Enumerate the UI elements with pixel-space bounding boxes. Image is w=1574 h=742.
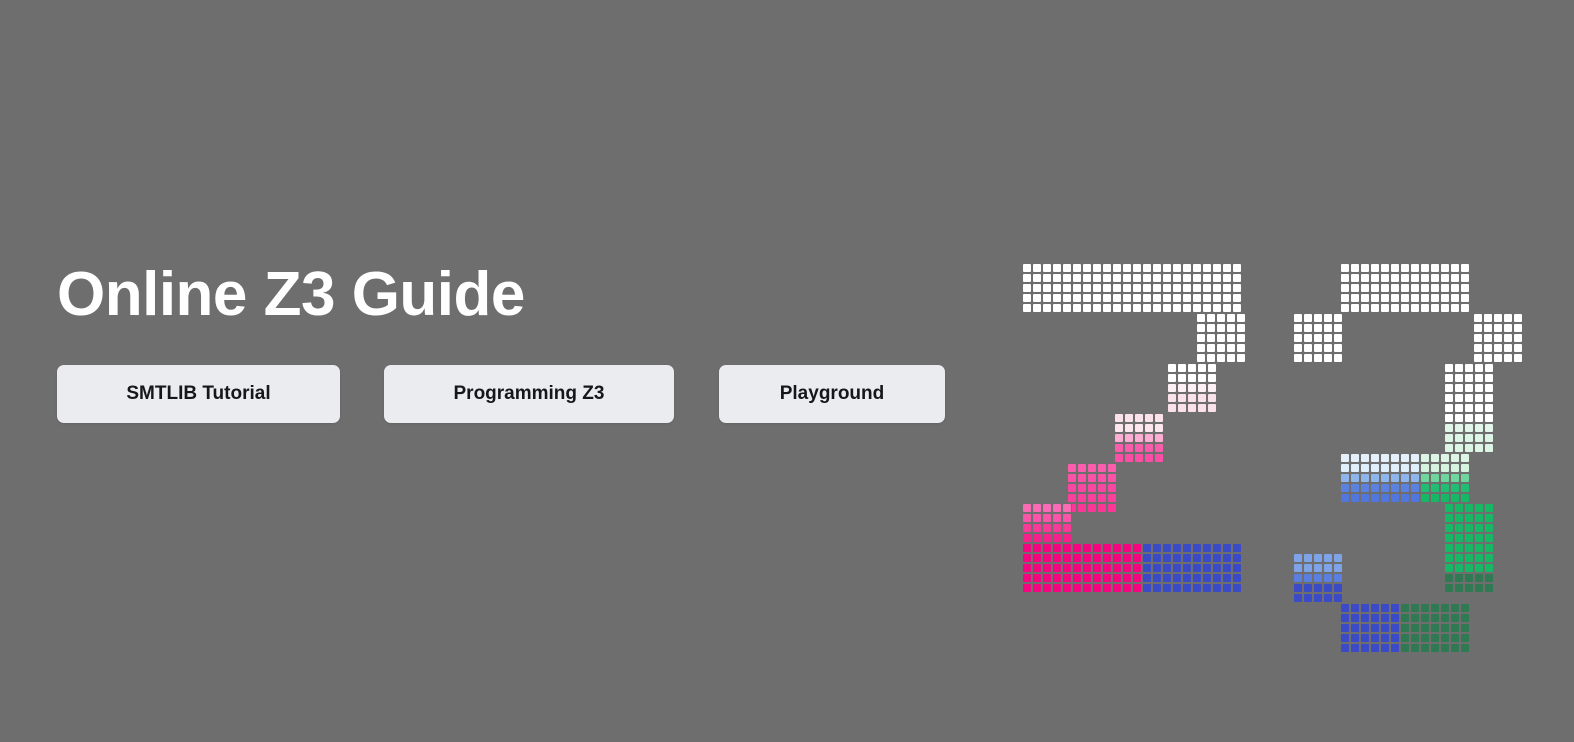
logo-pixel: [1410, 623, 1420, 633]
logo-pixel: [1196, 343, 1206, 353]
logo-pixel: [1380, 623, 1390, 633]
logo-pixel: [1092, 273, 1102, 283]
logo-block-step-2: [1114, 413, 1164, 463]
logo-pixel: [1212, 303, 1222, 313]
logo-pixel: [1484, 443, 1494, 453]
logo-pixel: [1293, 353, 1303, 363]
logo-pixel: [1464, 443, 1474, 453]
logo-pixel: [1232, 273, 1242, 283]
logo-pixel: [1484, 573, 1494, 583]
logo-pixel: [1052, 513, 1062, 523]
logo-pixel: [1360, 483, 1370, 493]
logo-pixel: [1182, 263, 1192, 273]
programming-z3-button[interactable]: Programming Z3: [384, 365, 674, 423]
logo-pixel: [1082, 573, 1092, 583]
logo-pixel: [1380, 613, 1390, 623]
logo-pixel: [1187, 383, 1197, 393]
logo-pixel: [1350, 633, 1360, 643]
logo-block-step-3: [1067, 463, 1117, 513]
logo-pixel: [1410, 463, 1420, 473]
logo-pixel: [1172, 543, 1182, 553]
logo-pixel: [1313, 353, 1323, 363]
logo-pixel: [1042, 583, 1052, 593]
logo-pixel: [1474, 513, 1484, 523]
logo-pixel: [1162, 303, 1172, 313]
logo-pixel: [1454, 383, 1464, 393]
logo-pixel: [1503, 353, 1513, 363]
logo-pixel: [1474, 413, 1484, 423]
logo-pixel: [1313, 573, 1323, 583]
logo-pixel: [1430, 293, 1440, 303]
logo-block-right-upper: [1473, 313, 1523, 363]
logo-pixel: [1144, 413, 1154, 423]
logo-pixel: [1122, 573, 1132, 583]
logo-pixel: [1196, 313, 1206, 323]
logo-pixel: [1484, 543, 1494, 553]
logo-pixel: [1430, 273, 1440, 283]
logo-pixel: [1022, 273, 1032, 283]
logo-pixel: [1370, 293, 1380, 303]
logo-pixel: [1323, 573, 1333, 583]
logo-pixel: [1483, 343, 1493, 353]
logo-pixel: [1350, 263, 1360, 273]
logo-pixel: [1473, 333, 1483, 343]
logo-pixel: [1350, 623, 1360, 633]
logo-pixel: [1410, 633, 1420, 643]
logo-pixel: [1042, 263, 1052, 273]
logo-pixel: [1340, 613, 1350, 623]
logo-pixel: [1410, 483, 1420, 493]
logo-pixel: [1430, 473, 1440, 483]
logo-pixel: [1142, 303, 1152, 313]
logo-pixel: [1460, 473, 1470, 483]
logo-pixel: [1454, 393, 1464, 403]
logo-pixel: [1464, 503, 1474, 513]
logo-pixel: [1450, 463, 1460, 473]
logo-pixel: [1410, 453, 1420, 463]
logo-pixel: [1182, 293, 1192, 303]
logo-pixel: [1450, 453, 1460, 463]
logo-pixel: [1333, 333, 1343, 343]
logo-pixel: [1226, 333, 1236, 343]
logo-pixel: [1444, 433, 1454, 443]
logo-pixel: [1370, 273, 1380, 283]
logo-pixel: [1202, 583, 1212, 593]
logo-pixel: [1112, 573, 1122, 583]
logo-pixel: [1444, 383, 1454, 393]
logo-pixel: [1323, 343, 1333, 353]
logo-pixel: [1474, 533, 1484, 543]
logo-block-left-lower: [1293, 553, 1343, 603]
logo-pixel: [1062, 563, 1072, 573]
logo-pixel: [1072, 303, 1082, 313]
logo-pixel: [1400, 613, 1410, 623]
logo-pixel: [1464, 393, 1474, 403]
logo-pixel: [1333, 343, 1343, 353]
logo-pixel: [1474, 403, 1484, 413]
logo-pixel: [1077, 493, 1087, 503]
logo-pixel: [1062, 293, 1072, 303]
logo-pixel: [1142, 273, 1152, 283]
logo-pixel: [1097, 463, 1107, 473]
logo-pixel: [1513, 323, 1523, 333]
logo-pixel: [1360, 463, 1370, 473]
logo-pixel: [1192, 583, 1202, 593]
z3-pixel-logo: [1022, 263, 1522, 583]
logo-pixel: [1032, 513, 1042, 523]
logo-pixel: [1430, 453, 1440, 463]
logo-pixel: [1226, 313, 1236, 323]
logo-pixel: [1196, 323, 1206, 333]
logo-pixel: [1484, 423, 1494, 433]
logo-block-right-column: [1444, 363, 1494, 453]
logo-pixel: [1042, 523, 1052, 533]
logo-pixel: [1390, 483, 1400, 493]
logo-pixel: [1052, 283, 1062, 293]
logo-pixel: [1206, 313, 1216, 323]
logo-pixel: [1323, 333, 1333, 343]
logo-pixel: [1464, 413, 1474, 423]
logo-pixel: [1454, 553, 1464, 563]
logo-pixel: [1142, 283, 1152, 293]
logo-pixel: [1390, 613, 1400, 623]
logo-pixel: [1303, 563, 1313, 573]
logo-pixel: [1444, 553, 1454, 563]
logo-pixel: [1444, 563, 1454, 573]
logo-pixel: [1450, 493, 1460, 503]
logo-pixel: [1464, 563, 1474, 573]
logo-pixel: [1107, 483, 1117, 493]
logo-pixel: [1072, 563, 1082, 573]
logo-pixel: [1400, 473, 1410, 483]
logo-pixel: [1232, 583, 1242, 593]
logo-pixel: [1107, 503, 1117, 513]
logo-pixel: [1202, 293, 1212, 303]
logo-pixel: [1380, 303, 1390, 313]
logo-pixel: [1350, 613, 1360, 623]
logo-pixel: [1444, 413, 1454, 423]
logo-pixel: [1450, 283, 1460, 293]
logo-pixel: [1097, 483, 1107, 493]
logo-pixel: [1122, 303, 1132, 313]
logo-pixel: [1207, 373, 1217, 383]
logo-pixel: [1484, 583, 1494, 593]
logo-pixel: [1236, 323, 1246, 333]
logo-pixel: [1222, 293, 1232, 303]
logo-pixel: [1022, 503, 1032, 513]
logo-pixel: [1360, 613, 1370, 623]
logo-pixel: [1340, 283, 1350, 293]
logo-pixel: [1197, 363, 1207, 373]
logo-pixel: [1350, 643, 1360, 653]
logo-pixel: [1167, 393, 1177, 403]
logo-pixel: [1444, 443, 1454, 453]
logo-pixel: [1112, 553, 1122, 563]
logo-pixel: [1293, 593, 1303, 603]
logo-pixel: [1202, 543, 1212, 553]
logo-pixel: [1042, 543, 1052, 553]
logo-pixel: [1202, 283, 1212, 293]
logo-pixel: [1226, 323, 1236, 333]
logo-pixel: [1420, 643, 1430, 653]
logo-pixel: [1360, 453, 1370, 463]
logo-pixel: [1102, 583, 1112, 593]
logo-pixel: [1464, 403, 1474, 413]
logo-pixel: [1092, 293, 1102, 303]
logo-pixel: [1400, 263, 1410, 273]
logo-pixel: [1062, 263, 1072, 273]
logo-pixel: [1474, 503, 1484, 513]
logo-pixel: [1360, 263, 1370, 273]
logo-pixel: [1460, 463, 1470, 473]
logo-pixel: [1464, 373, 1474, 383]
logo-pixel: [1483, 313, 1493, 323]
logo-pixel: [1430, 283, 1440, 293]
logo-pixel: [1082, 543, 1092, 553]
logo-pixel: [1360, 643, 1370, 653]
logo-pixel: [1092, 563, 1102, 573]
logo-pixel: [1144, 443, 1154, 453]
logo-pixel: [1410, 473, 1420, 483]
logo-pixel: [1464, 583, 1474, 593]
logo-block-top-bar: [1340, 263, 1470, 313]
logo-pixel: [1440, 453, 1450, 463]
logo-pixel: [1167, 363, 1177, 373]
logo-pixel: [1430, 483, 1440, 493]
logo-pixel: [1232, 303, 1242, 313]
logo-pixel: [1042, 563, 1052, 573]
logo-pixel: [1212, 263, 1222, 273]
logo-pixel: [1313, 553, 1323, 563]
logo-pixel: [1360, 303, 1370, 313]
logo-pixel: [1172, 293, 1182, 303]
logo-pixel: [1022, 303, 1032, 313]
logo-pixel: [1430, 603, 1440, 613]
logo-pixel: [1022, 573, 1032, 583]
logo-pixel: [1236, 343, 1246, 353]
logo-pixel: [1420, 633, 1430, 643]
logo-pixel: [1134, 413, 1144, 423]
playground-button[interactable]: Playground: [719, 365, 945, 423]
logo-pixel: [1216, 343, 1226, 353]
logo-pixel: [1370, 603, 1380, 613]
page-title: Online Z3 Guide: [57, 262, 957, 327]
logo-pixel: [1400, 273, 1410, 283]
logo-pixel: [1370, 623, 1380, 633]
logo-pixel: [1503, 313, 1513, 323]
logo-pixel: [1154, 423, 1164, 433]
logo-pixel: [1097, 493, 1107, 503]
logo-pixel: [1390, 303, 1400, 313]
logo-pixel: [1062, 533, 1072, 543]
logo-pixel: [1042, 303, 1052, 313]
logo-pixel: [1474, 543, 1484, 553]
logo-pixel: [1400, 643, 1410, 653]
logo-pixel: [1022, 293, 1032, 303]
logo-pixel: [1303, 573, 1313, 583]
logo-block-bottom-bar: [1022, 543, 1242, 593]
logo-pixel: [1420, 283, 1430, 293]
logo-pixel: [1293, 583, 1303, 593]
logo-pixel: [1042, 573, 1052, 583]
logo-pixel: [1132, 263, 1142, 273]
logo-pixel: [1192, 573, 1202, 583]
logo-pixel: [1072, 283, 1082, 293]
logo-pixel: [1122, 283, 1132, 293]
logo-pixel: [1440, 623, 1450, 633]
logo-pixel: [1222, 303, 1232, 313]
logo-pixel: [1454, 433, 1464, 443]
logo-pixel: [1182, 283, 1192, 293]
logo-pixel: [1082, 293, 1092, 303]
logo-pixel: [1132, 303, 1142, 313]
logo-pixel: [1052, 533, 1062, 543]
logo-pixel: [1450, 273, 1460, 283]
logo-pixel: [1400, 483, 1410, 493]
logo-pixel: [1197, 373, 1207, 383]
logo-pixel: [1444, 533, 1454, 543]
logo-pixel: [1152, 303, 1162, 313]
logo-pixel: [1460, 623, 1470, 633]
logo-pixel: [1172, 553, 1182, 563]
logo-pixel: [1162, 543, 1172, 553]
logo-pixel: [1450, 623, 1460, 633]
logo-pixel: [1062, 523, 1072, 533]
logo-pixel: [1052, 293, 1062, 303]
logo-pixel: [1420, 603, 1430, 613]
logo-pixel: [1340, 633, 1350, 643]
logo-pixel: [1114, 423, 1124, 433]
logo-pixel: [1460, 633, 1470, 643]
logo-pixel: [1092, 303, 1102, 313]
logo-pixel: [1032, 523, 1042, 533]
logo-pixel: [1052, 563, 1062, 573]
logo-pixel: [1420, 623, 1430, 633]
logo-pixel: [1430, 263, 1440, 273]
logo-pixel: [1370, 633, 1380, 643]
logo-pixel: [1052, 523, 1062, 533]
logo-pixel: [1072, 583, 1082, 593]
logo-pixel: [1370, 613, 1380, 623]
logo-pixel: [1222, 263, 1232, 273]
logo-pixel: [1464, 543, 1474, 553]
logo-pixel: [1032, 273, 1042, 283]
logo-pixel: [1187, 403, 1197, 413]
logo-pixel: [1440, 603, 1450, 613]
logo-pixel: [1112, 273, 1122, 283]
logo-pixel: [1350, 603, 1360, 613]
logo-pixel: [1454, 543, 1464, 553]
logo-pixel: [1232, 573, 1242, 583]
logo-pixel: [1122, 293, 1132, 303]
logo-pixel: [1380, 473, 1390, 483]
logo-pixel: [1162, 583, 1172, 593]
logo-pixel: [1052, 543, 1062, 553]
logo-pixel: [1142, 553, 1152, 563]
logo-pixel: [1067, 483, 1077, 493]
logo-pixel: [1212, 563, 1222, 573]
logo-pixel: [1444, 423, 1454, 433]
logo-pixel: [1454, 423, 1464, 433]
logo-pixel: [1440, 643, 1450, 653]
logo-pixel: [1440, 293, 1450, 303]
logo-pixel: [1122, 563, 1132, 573]
logo-pixel: [1132, 563, 1142, 573]
logo-pixel: [1370, 483, 1380, 493]
logo-pixel: [1464, 553, 1474, 563]
logo-pixel: [1303, 323, 1313, 333]
logo-pixel: [1072, 553, 1082, 563]
logo-pixel: [1410, 293, 1420, 303]
logo-pixel: [1162, 273, 1172, 283]
logo-pixel: [1400, 633, 1410, 643]
logo-pixel: [1454, 443, 1464, 453]
logo-pixel: [1454, 363, 1464, 373]
logo-pixel: [1207, 363, 1217, 373]
logo-pixel: [1207, 383, 1217, 393]
logo-pixel: [1400, 293, 1410, 303]
logo-pixel: [1087, 493, 1097, 503]
logo-pixel: [1390, 283, 1400, 293]
logo-pixel: [1212, 273, 1222, 283]
logo-pixel: [1212, 293, 1222, 303]
logo-pixel: [1340, 473, 1350, 483]
logo-pixel: [1232, 563, 1242, 573]
logo-pixel: [1444, 503, 1454, 513]
logo-pixel: [1202, 263, 1212, 273]
logo-pixel: [1474, 563, 1484, 573]
logo-pixel: [1122, 553, 1132, 563]
logo-pixel: [1102, 563, 1112, 573]
logo-pixel: [1197, 403, 1207, 413]
logo-block-middle-bar: [1340, 453, 1470, 503]
logo-pixel: [1350, 463, 1360, 473]
logo-pixel: [1483, 323, 1493, 333]
logo-pixel: [1444, 363, 1454, 373]
logo-pixel: [1134, 453, 1144, 463]
logo-pixel: [1144, 453, 1154, 463]
logo-pixel: [1162, 563, 1172, 573]
logo-pixel: [1072, 273, 1082, 283]
logo-pixel: [1460, 273, 1470, 283]
logo-pixel: [1360, 493, 1370, 503]
logo-pixel: [1042, 283, 1052, 293]
logo-pixel: [1032, 283, 1042, 293]
logo-pixel: [1107, 473, 1117, 483]
logo-pixel: [1360, 293, 1370, 303]
logo-pixel: [1022, 523, 1032, 533]
logo-pixel: [1513, 353, 1523, 363]
logo-pixel: [1460, 613, 1470, 623]
logo-pixel: [1293, 573, 1303, 583]
logo-pixel: [1032, 553, 1042, 563]
logo-pixel: [1222, 563, 1232, 573]
logo-pixel: [1454, 573, 1464, 583]
logo-pixel: [1474, 553, 1484, 563]
logo-pixel: [1082, 583, 1092, 593]
logo-pixel: [1493, 313, 1503, 323]
logo-pixel: [1460, 263, 1470, 273]
logo-pixel: [1450, 633, 1460, 643]
logo-pixel: [1077, 503, 1087, 513]
logo-pixel: [1493, 333, 1503, 343]
logo-pixel: [1154, 443, 1164, 453]
logo-pixel: [1212, 543, 1222, 553]
logo-pixel: [1097, 503, 1107, 513]
smtlib-tutorial-button[interactable]: SMTLIB Tutorial: [57, 365, 340, 423]
logo-pixel: [1236, 313, 1246, 323]
logo-pixel: [1052, 573, 1062, 583]
